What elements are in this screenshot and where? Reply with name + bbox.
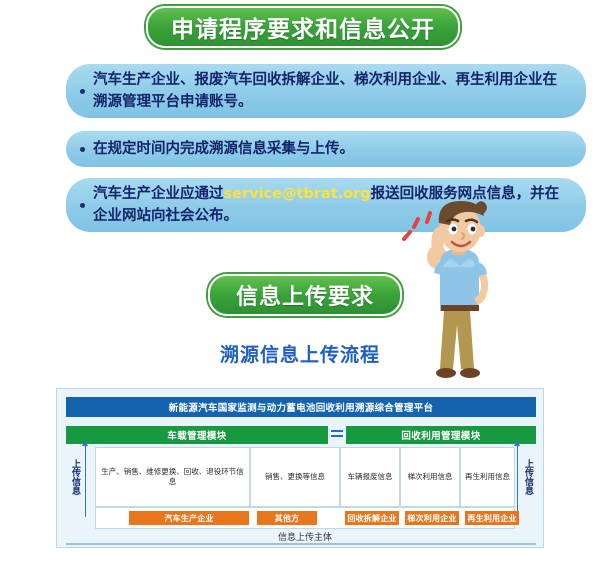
upload-arrow-left-icon	[85, 445, 86, 517]
bullet-item: 汽车生产企业应通过service@tbrat.org报送回收服务网点信息，并在企…	[66, 178, 586, 232]
entity-box: 回收拆解企业	[345, 511, 399, 525]
page-title-pill: 申请程序要求和信息公开	[146, 6, 460, 48]
entity-box: 汽车生产企业	[129, 511, 249, 525]
entity-box: 梯次利用企业	[405, 511, 459, 525]
upload-arrow-right-icon	[517, 445, 518, 517]
bullet-dot-icon	[80, 147, 85, 152]
entity-row-label: 信息上传主体	[95, 530, 515, 543]
pointing-man-illustration	[396, 193, 502, 383]
bullet-item: 汽车生产企业、报废汽车回收拆解企业、梯次利用企业、再生利用企业在溯源管理平台申请…	[66, 64, 586, 118]
emphasis-marks-icon	[404, 213, 430, 239]
bullet-text: 汽车生产企业、报废汽车回收拆解企业、梯次利用企业、再生利用企业在溯源管理平台申请…	[93, 69, 586, 113]
module-recycle: 回收利用管理模块	[346, 426, 536, 444]
contact-email-link[interactable]: service@tbrat.org	[224, 186, 371, 202]
bullet-dot-icon	[80, 89, 85, 94]
platform-header: 新能源汽车国家监测与动力蓄电池回收利用溯源综合管理平台	[66, 397, 536, 417]
info-cell: 梯次利用信息	[400, 447, 460, 507]
section-title: 信息上传要求	[236, 279, 374, 311]
upload-flow-diagram: 新能源汽车国家监测与动力蓄电池回收利用溯源综合管理平台 车载管理模块 回收利用管…	[56, 388, 544, 548]
bullet-text: 在规定时间内完成溯源信息采集与上传。	[93, 138, 370, 160]
module-vehicle: 车载管理模块	[66, 426, 328, 444]
bullet-dot-icon	[80, 203, 85, 208]
info-cell: 再生利用信息	[460, 447, 515, 507]
upload-label-left: 上传信息	[66, 449, 83, 505]
info-cell: 车辆报废信息	[340, 447, 400, 507]
entity-box: 其他方	[257, 511, 317, 525]
info-cell: 生产、销售、维修更换、回收、退役环节信息	[95, 447, 250, 507]
bullet-text: 汽车生产企业应通过service@tbrat.org报送回收服务网点信息，并在企…	[93, 183, 586, 227]
equals-connector-icon	[331, 430, 343, 440]
info-cell-row: 生产、销售、维修更换、回收、退役环节信息 销售、更换等信息 车辆报废信息 梯次利…	[95, 447, 515, 507]
section-title-pill: 信息上传要求	[208, 274, 402, 316]
flow-bottom-divider	[66, 543, 536, 545]
upload-label-right: 上传信息	[519, 449, 536, 505]
bullet-item: 在规定时间内完成溯源信息采集与上传。	[66, 131, 586, 167]
entity-box: 再生利用企业	[465, 511, 519, 525]
info-cell: 销售、更换等信息	[250, 447, 340, 507]
flow-subheading: 溯源信息上传流程	[0, 340, 600, 367]
page-title: 申请程序要求和信息公开	[171, 10, 435, 44]
bullet-text-lead: 汽车生产企业应通过	[93, 186, 224, 202]
